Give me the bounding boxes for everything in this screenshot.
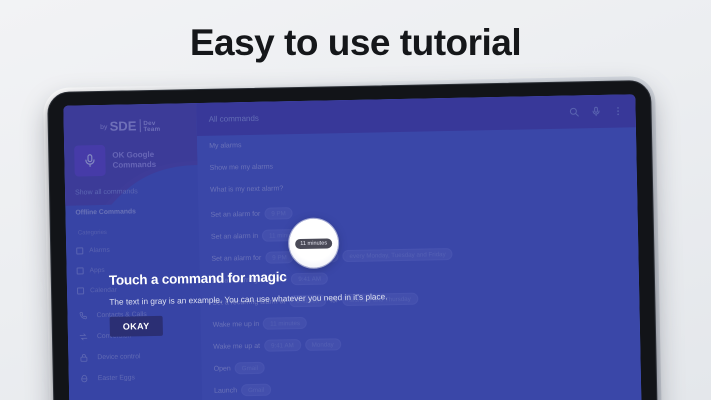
tutorial-scrim[interactable]	[63, 94, 641, 400]
tablet-device-mockup: bySDEDevTeam OK Google Commands	[47, 80, 658, 400]
tablet-screen: bySDEDevTeam OK Google Commands	[63, 94, 641, 400]
spotlight-chip[interactable]: 11 minutes	[295, 238, 332, 249]
okay-button[interactable]: OKAY	[110, 316, 163, 337]
promo-headline: Easy to use tutorial	[0, 22, 711, 64]
